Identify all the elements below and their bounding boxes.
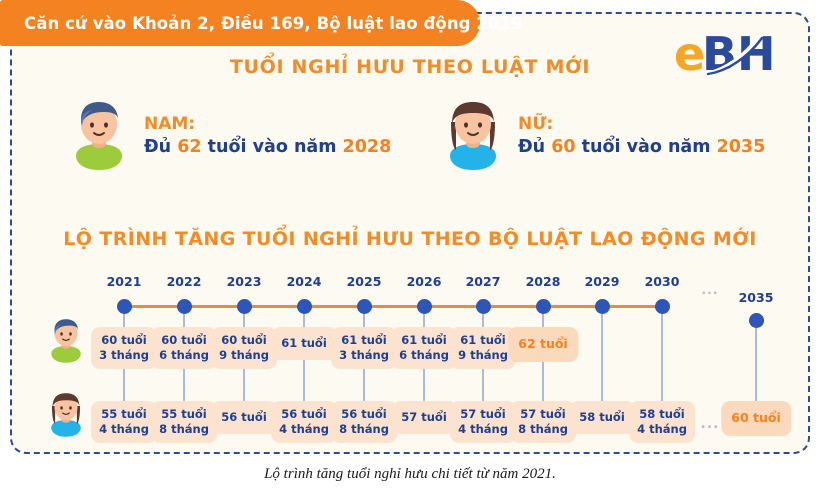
male-prefix: Đủ xyxy=(144,137,177,157)
pill-line-1: 57 tuổi xyxy=(401,410,447,425)
female-label: NỮ: xyxy=(518,114,765,136)
timeline-year-label: 2023 xyxy=(227,274,262,289)
male-age-pill: 61 tuổi3 tháng xyxy=(331,327,397,369)
roadmap-title: LỘ TRÌNH TĂNG TUỔI NGHỈ HƯU THEO BỘ LUẬT… xyxy=(0,228,820,250)
timeline-year-label: 2030 xyxy=(645,274,680,289)
source-banner-text: Căn cứ vào Khoản 2, Điều 169, Bộ luật la… xyxy=(0,14,523,33)
male-sentence: Đủ 62 tuổi vào năm 2028 xyxy=(144,136,391,158)
timeline-dot xyxy=(177,299,192,314)
timeline-dot xyxy=(237,299,252,314)
timeline-dot xyxy=(357,299,372,314)
pill-line-2: 8 tháng xyxy=(159,422,209,437)
female-age-pill: 60 tuổi xyxy=(721,401,791,436)
pill-line-1: 57 tuổi xyxy=(458,407,508,422)
pill-line-2: 8 tháng xyxy=(339,422,389,437)
timeline-year-label: 2025 xyxy=(347,274,382,289)
female-age: 60 xyxy=(551,137,575,157)
female-small-avatar-icon xyxy=(46,392,86,438)
female-mid: tuổi vào năm xyxy=(576,137,717,157)
pill-line-1: 56 tuổi xyxy=(279,407,329,422)
female-age-pill: 57 tuổi xyxy=(391,401,457,434)
pill-line-1: 55 tuổi xyxy=(159,407,209,422)
pill-line-1: 60 tuổi xyxy=(219,333,269,348)
female-prefix: Đủ xyxy=(518,137,551,157)
timeline-dot xyxy=(117,299,132,314)
timeline-dot xyxy=(476,299,491,314)
male-age-pill: 60 tuổi6 tháng xyxy=(151,327,217,369)
timeline-dot xyxy=(595,299,610,314)
female-row-ellipsis: ... xyxy=(701,416,720,432)
pill-line-1: 58 tuổi xyxy=(637,407,687,422)
male-year: 2028 xyxy=(343,137,392,157)
pill-line-1: 61 tuổi xyxy=(281,336,327,351)
female-age-pill: 57 tuổi4 tháng xyxy=(450,401,516,443)
pill-line-1: 56 tuổi xyxy=(221,410,267,425)
row-avatar-male xyxy=(46,318,86,368)
timeline-dot xyxy=(417,299,432,314)
female-age-pill: 55 tuổi4 tháng xyxy=(91,401,157,443)
female-age-pill: 57 tuổi8 tháng xyxy=(510,401,576,443)
male-age-pill: 61 tuổi9 tháng xyxy=(450,327,516,369)
male-age-pill: 61 tuổi6 tháng xyxy=(391,327,457,369)
pill-line-1: 60 tuổi xyxy=(731,410,781,427)
male-age: 62 xyxy=(177,137,201,157)
female-text: NỮ: Đủ 60 tuổi vào năm 2035 xyxy=(518,114,765,158)
source-banner: Căn cứ vào Khoản 2, Điều 169, Bộ luật la… xyxy=(0,0,480,46)
timeline-ellipsis-top: ... xyxy=(701,282,718,297)
pill-line-1: 61 tuổi xyxy=(339,333,389,348)
pill-line-1: 61 tuổi xyxy=(399,333,449,348)
male-text: NAM: Đủ 62 tuổi vào năm 2028 xyxy=(144,114,391,158)
female-age-pill: 55 tuổi8 tháng xyxy=(151,401,217,443)
pill-line-2: 4 tháng xyxy=(279,422,329,437)
male-label: NAM: xyxy=(144,114,391,136)
female-avatar-icon xyxy=(442,100,504,172)
pill-line-2: 3 tháng xyxy=(339,348,389,363)
timeline-dot xyxy=(655,299,670,314)
pill-line-2: 4 tháng xyxy=(99,422,149,437)
pill-line-2: 6 tháng xyxy=(399,348,449,363)
row-avatar-female xyxy=(46,392,86,442)
male-age-pill: 62 tuổi xyxy=(508,327,578,362)
timeline-year-label: 2026 xyxy=(407,274,442,289)
pill-line-2: 9 tháng xyxy=(219,348,269,363)
female-age-pill: 56 tuổi xyxy=(211,401,277,434)
pill-line-2: 4 tháng xyxy=(458,422,508,437)
figure-caption: Lộ trình tăng tuổi nghỉ hưu chi tiết từ … xyxy=(0,466,820,483)
pill-line-1: 60 tuổi xyxy=(159,333,209,348)
infographic-page: Căn cứ vào Khoản 2, Điều 169, Bộ luật la… xyxy=(0,0,820,499)
male-age-pill: 60 tuổi9 tháng xyxy=(211,327,277,369)
male-age-pill: 61 tuổi xyxy=(271,327,337,360)
pill-line-1: 60 tuổi xyxy=(99,333,149,348)
female-age-pill: 56 tuổi8 tháng xyxy=(331,401,397,443)
timeline-year-label: 2021 xyxy=(107,274,142,289)
timeline-rail xyxy=(124,305,662,308)
female-age-pill: 56 tuổi4 tháng xyxy=(271,401,337,443)
male-mid: tuổi vào năm xyxy=(202,137,343,157)
timeline-dot xyxy=(297,299,312,314)
gender-block-male: NAM: Đủ 62 tuổi vào năm 2028 xyxy=(68,100,391,172)
timeline-year-label: 2029 xyxy=(585,274,620,289)
timeline-dot xyxy=(536,299,551,314)
timeline-year-label: 2024 xyxy=(287,274,322,289)
female-year: 2035 xyxy=(717,137,766,157)
pill-line-1: 61 tuổi xyxy=(458,333,508,348)
timeline-year-label: 2028 xyxy=(526,274,561,289)
pill-line-2: 6 tháng xyxy=(159,348,209,363)
female-age-pill: 58 tuổi xyxy=(569,401,635,434)
pill-line-2: 3 tháng xyxy=(99,348,149,363)
timeline-year-label: 2035 xyxy=(739,290,774,305)
pill-line-1: 55 tuổi xyxy=(99,407,149,422)
pill-line-2: 4 tháng xyxy=(637,422,687,437)
ebh-logo-icon: e BH xyxy=(674,26,786,80)
pill-line-2: 9 tháng xyxy=(458,348,508,363)
gender-block-female: NỮ: Đủ 60 tuổi vào năm 2035 xyxy=(442,100,765,172)
female-age-pill: 58 tuổi4 tháng xyxy=(629,401,695,443)
ebh-logo: e BH xyxy=(674,26,786,80)
male-small-avatar-icon xyxy=(46,318,86,364)
male-age-pill: 60 tuổi3 tháng xyxy=(91,327,157,369)
timeline-year-label: 2022 xyxy=(167,274,202,289)
pill-line-1: 58 tuổi xyxy=(579,410,625,425)
pill-line-2: 8 tháng xyxy=(518,422,568,437)
female-sentence: Đủ 60 tuổi vào năm 2035 xyxy=(518,136,765,158)
svg-text:e: e xyxy=(674,27,705,80)
male-avatar-icon xyxy=(68,100,130,172)
timeline-dot xyxy=(749,313,764,328)
pill-line-1: 56 tuổi xyxy=(339,407,389,422)
timeline-year-label: 2027 xyxy=(466,274,501,289)
pill-line-1: 57 tuổi xyxy=(518,407,568,422)
pill-line-1: 62 tuổi xyxy=(518,336,568,353)
